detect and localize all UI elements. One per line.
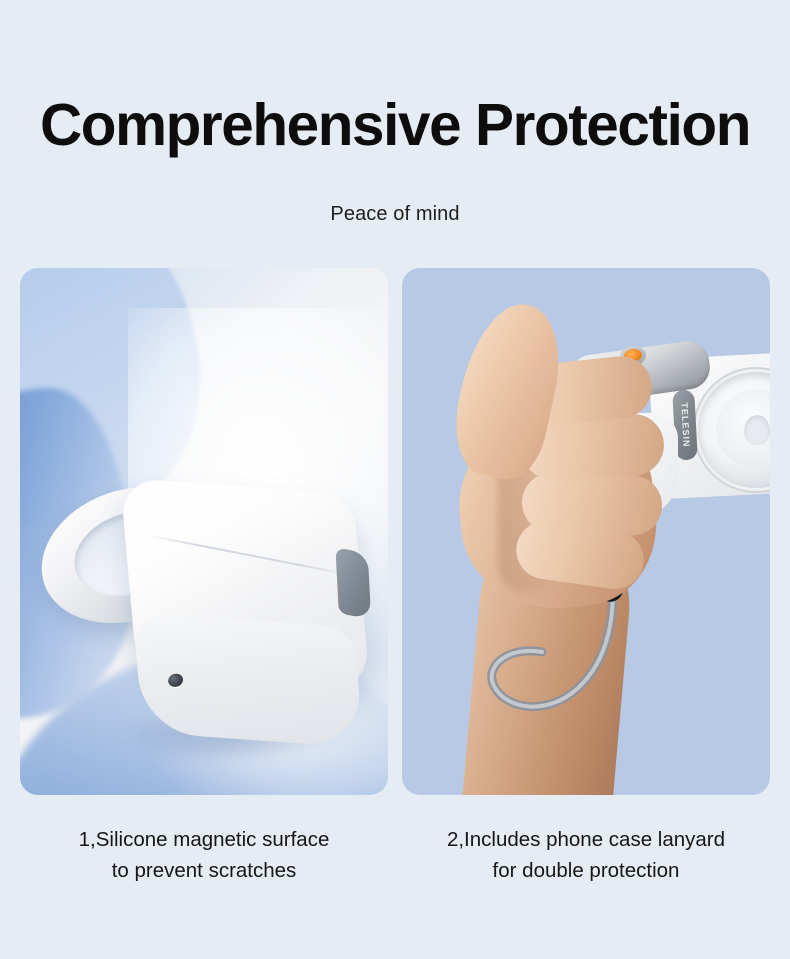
magsafe-glyph-icon [744,415,770,445]
feature-image-lanyard: TELESIN [402,268,770,795]
page-title: Comprehensive Protection [4,0,786,155]
caption-lanyard: 2,Includes phone case lanyard for double… [402,824,770,886]
caption-line: for double protection [402,855,770,886]
caption-line: to prevent scratches [20,855,388,886]
brand-name: TELESIN [679,402,691,447]
header: Comprehensive Protection Peace of mind [0,0,790,226]
feature-image-silicone-surface [20,268,388,795]
feature-panels: TELESIN [20,268,770,795]
feature-captions: 1,Silicone magnetic surface to prevent s… [20,824,770,886]
caption-silicone-surface: 1,Silicone magnetic surface to prevent s… [20,824,388,886]
magsafe-inner-ring [716,389,770,469]
finger-ring [521,472,663,537]
product-side-facet [335,547,371,619]
product-phone-grip [30,427,387,774]
caption-line: 1,Silicone magnetic surface [20,824,388,855]
page-subtitle: Peace of mind [0,155,790,226]
caption-line: 2,Includes phone case lanyard [402,824,770,855]
